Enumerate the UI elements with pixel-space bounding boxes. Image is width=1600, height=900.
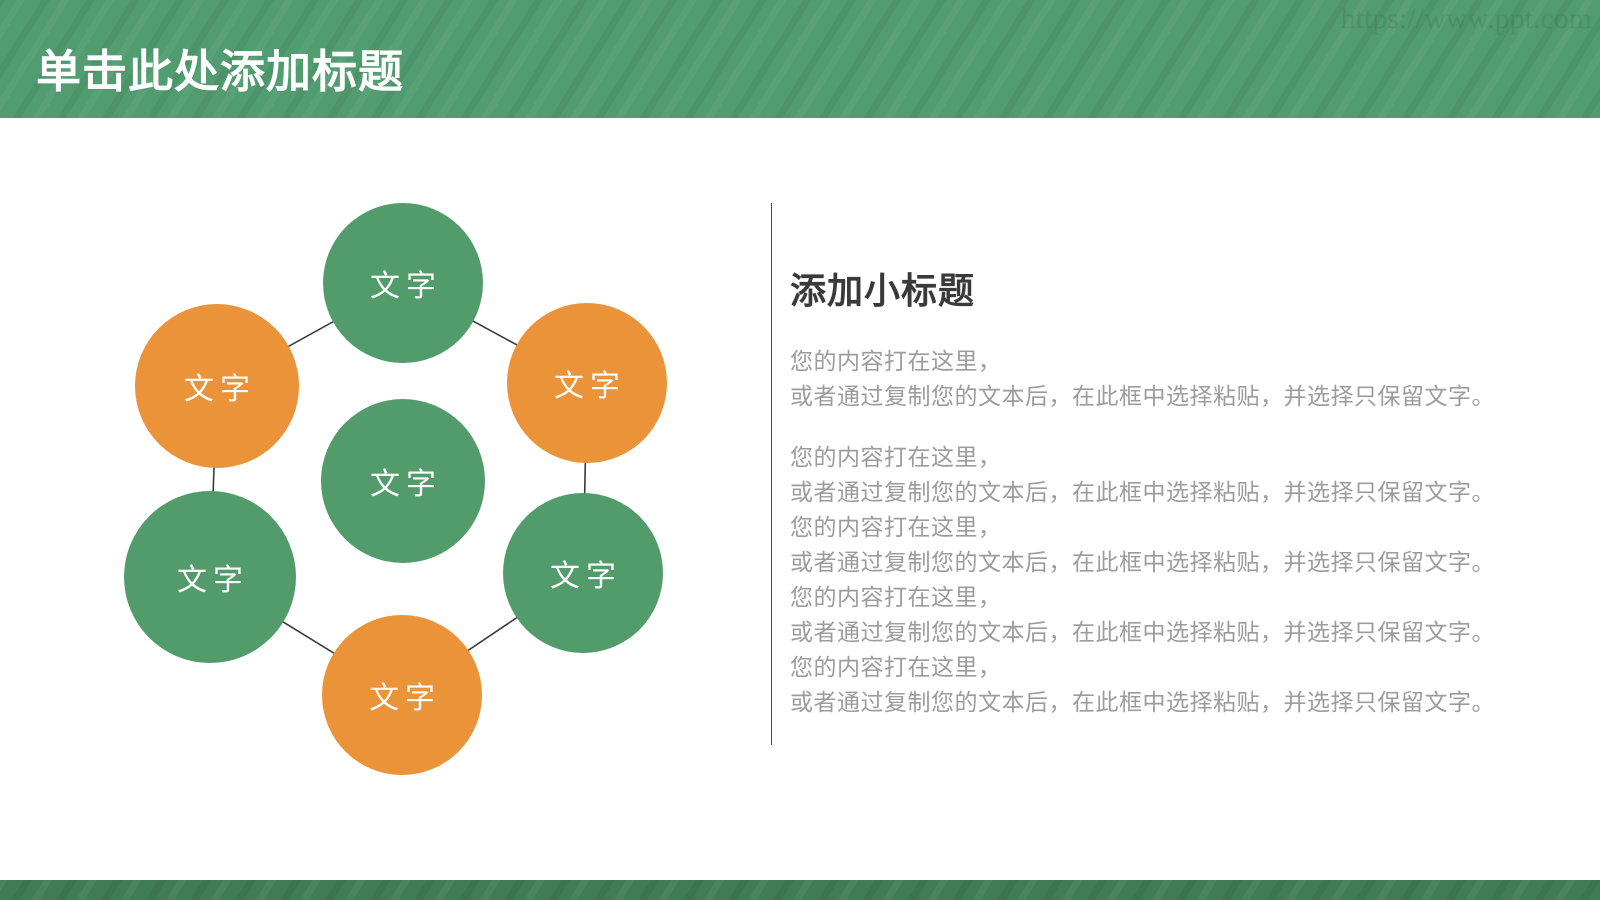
paragraph-two-line-5: 您的内容打在这里，: [790, 580, 1510, 615]
paragraph-two-line-1: 您的内容打在这里，: [790, 440, 1510, 475]
paragraph-two-line-7: 您的内容打在这里，: [790, 650, 1510, 685]
paragraph-one-line-2: 或者通过复制您的文本后，在此框中选择粘贴，并选择只保留文字。: [790, 379, 1510, 414]
diagram-node-bottom[interactable]: 文字: [322, 615, 482, 775]
diagram-node-top[interactable]: 文字: [323, 203, 483, 363]
slide: 单击此处添加标题 https://www.ppt.com 文字文字文字文字文字文…: [0, 0, 1600, 900]
diagram-node-upper-right[interactable]: 文字: [507, 303, 667, 463]
paragraph-two-line-2: 或者通过复制您的文本后，在此框中选择粘贴，并选择只保留文字。: [790, 475, 1510, 510]
footer-texture: [0, 880, 1600, 900]
diagram-node-label: 文字: [364, 261, 442, 305]
diagram-node-lower-left[interactable]: 文字: [124, 491, 296, 663]
paragraph-one-line-1: 您的内容打在这里，: [790, 344, 1510, 379]
diagram-node-label: 文字: [171, 555, 249, 599]
paragraph-two-line-3: 您的内容打在这里，: [790, 510, 1510, 545]
diagram-node-label: 文字: [178, 364, 256, 408]
paragraph-one[interactable]: 您的内容打在这里， 或者通过复制您的文本后，在此框中选择粘贴，并选择只保留文字。: [790, 344, 1510, 414]
paragraph-two-line-8: 或者通过复制您的文本后，在此框中选择粘贴，并选择只保留文字。: [790, 685, 1510, 720]
diagram-node-lower-right[interactable]: 文字: [503, 493, 663, 653]
content-panel: 添加小标题 您的内容打在这里， 或者通过复制您的文本后，在此框中选择粘贴，并选择…: [790, 262, 1510, 720]
hexagon-diagram: 文字文字文字文字文字文字文字: [95, 175, 735, 805]
diagram-node-center[interactable]: 文字: [321, 399, 485, 563]
diagram-node-label: 文字: [363, 673, 441, 717]
paragraph-two-line-6: 或者通过复制您的文本后，在此框中选择粘贴，并选择只保留文字。: [790, 615, 1510, 650]
diagram-node-label: 文字: [548, 361, 626, 405]
footer-bar: [0, 880, 1600, 900]
section-subtitle[interactable]: 添加小标题: [790, 262, 1510, 314]
vertical-divider: [771, 203, 772, 745]
page-title[interactable]: 单击此处添加标题: [36, 35, 404, 100]
diagram-node-label: 文字: [544, 551, 622, 595]
diagram-node-label: 文字: [364, 459, 442, 503]
paragraph-two[interactable]: 您的内容打在这里， 或者通过复制您的文本后，在此框中选择粘贴，并选择只保留文字。…: [790, 440, 1510, 720]
paragraph-two-line-4: 或者通过复制您的文本后，在此框中选择粘贴，并选择只保留文字。: [790, 545, 1510, 580]
diagram-node-upper-left[interactable]: 文字: [135, 304, 299, 468]
header-bar: 单击此处添加标题 https://www.ppt.com: [0, 0, 1600, 118]
watermark-text: https://www.ppt.com: [1341, 2, 1592, 36]
